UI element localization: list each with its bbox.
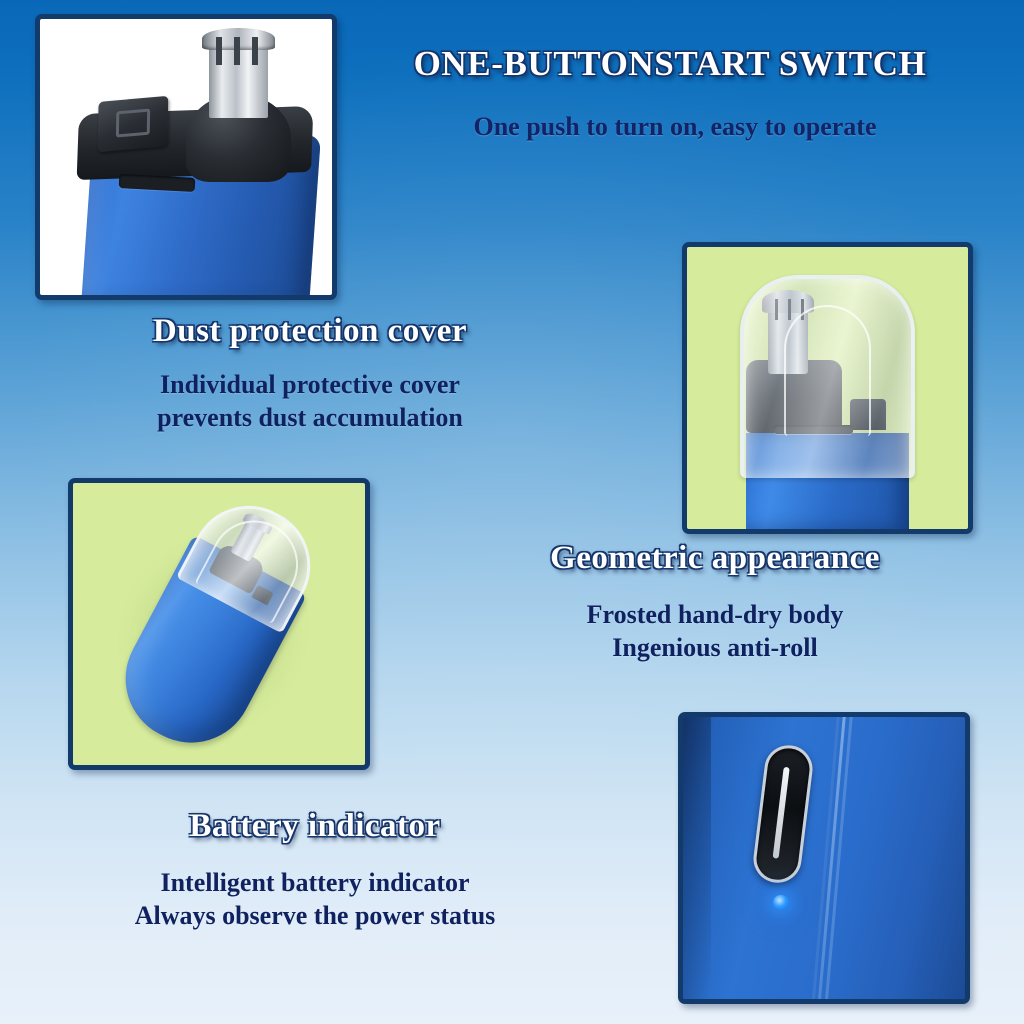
photo-panel-trimmer-head [35,14,337,300]
full-trimmer-illustration [73,483,365,765]
page-subtitle: One push to turn on, easy to operate [360,110,990,143]
trimmer-steel-blade [209,36,267,119]
trimmer-head-illustration [40,19,332,295]
feature-heading-battery-indicator: Battery indicator [60,808,570,845]
page-title: ONE-BUTTONSTART SWITCH [330,44,1010,84]
feature-description-dust-protection-cover: Individual protective cover prevents dus… [55,368,565,435]
dust-cover-inner-reflection [784,305,870,436]
battery-indicator-led-icon [773,895,789,911]
feature-description-line-1: Frosted hand-dry body [500,598,930,631]
feature-description-line-2: Always observe the power status [45,899,585,932]
feature-description-line-2: prevents dust accumulation [55,401,565,434]
photo-panel-dust-cover [682,242,973,534]
feature-description-line-1: Intelligent battery indicator [45,866,585,899]
transparent-dust-cover [740,275,914,478]
feature-heading-geometric-appearance: Geometric appearance [480,540,950,577]
feature-description-line-1: Individual protective cover [55,368,565,401]
feature-description-battery-indicator: Intelligent battery indicator Always obs… [45,866,585,933]
photo-panel-power-button-led [678,712,970,1004]
feature-heading-dust-protection-cover: Dust protection cover [60,313,560,350]
product-feature-poster: ONE-BUTTONSTART SWITCH One push to turn … [0,0,1024,1024]
photo-panel-full-trimmer [68,478,370,770]
power-switch-button [98,96,169,152]
dust-cover-illustration [687,247,968,529]
feature-description-line-2: Ingenious anti-roll [500,631,930,664]
body-edge-shadow [683,717,711,999]
power-button-illustration [683,717,965,999]
feature-description-geometric-appearance: Frosted hand-dry body Ingenious anti-rol… [500,598,930,665]
